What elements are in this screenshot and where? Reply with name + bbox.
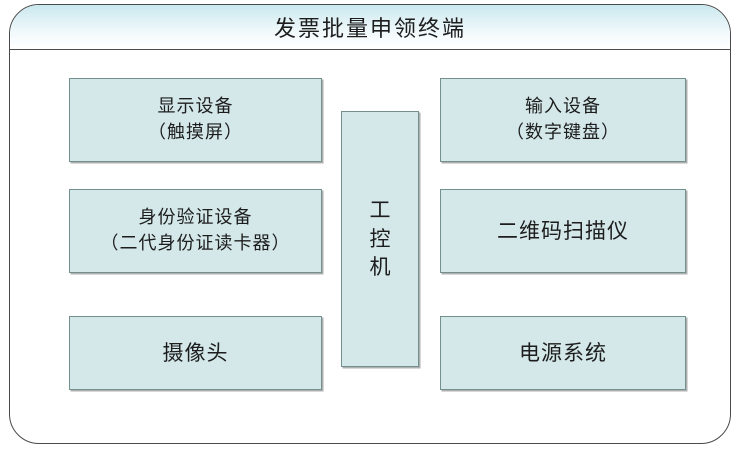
block-power-system-label: 电源系统 [519, 338, 607, 368]
terminal-title-bar: 发票批量申领终端 [10, 5, 730, 50]
block-display-device: 显示设备 （触摸屏） [69, 78, 322, 162]
block-input-device: 输入设备 （数字键盘） [440, 78, 686, 162]
terminal-body: 显示设备 （触摸屏） 身份验证设备 （二代身份证读卡器） 摄像头 工 控 机 输… [10, 50, 730, 443]
block-industrial-pc-label: 工 控 机 [370, 196, 391, 281]
block-display-device-label: 显示设备 （触摸屏） [148, 94, 243, 146]
block-camera-label: 摄像头 [163, 338, 229, 368]
block-input-device-label: 输入设备 （数字键盘） [506, 94, 620, 146]
terminal-outer-frame: 发票批量申领终端 显示设备 （触摸屏） 身份验证设备 （二代身份证读卡器） 摄像… [9, 4, 731, 444]
block-identity-device-label: 身份验证设备 （二代身份证读卡器） [101, 205, 291, 257]
diagram-canvas: 发票批量申领终端 显示设备 （触摸屏） 身份验证设备 （二代身份证读卡器） 摄像… [0, 0, 750, 458]
block-qr-scanner: 二维码扫描仪 [440, 189, 686, 273]
block-camera: 摄像头 [69, 316, 322, 390]
block-identity-device: 身份验证设备 （二代身份证读卡器） [69, 189, 322, 273]
page-title: 发票批量申领终端 [274, 11, 466, 43]
block-power-system: 电源系统 [440, 316, 686, 390]
block-qr-scanner-label: 二维码扫描仪 [497, 216, 629, 246]
block-industrial-pc: 工 控 机 [341, 111, 419, 367]
